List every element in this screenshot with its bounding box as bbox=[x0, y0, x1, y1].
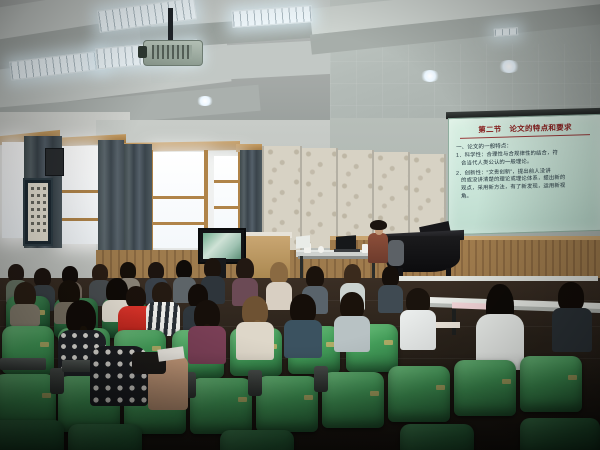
lecture-seat[interactable] bbox=[68, 424, 142, 450]
patterned-curtain-panel bbox=[336, 150, 374, 246]
projector-lens bbox=[138, 46, 147, 58]
window-pane bbox=[2, 142, 24, 238]
patterned-curtain-panel bbox=[300, 148, 338, 248]
projection-screen: 第二节 论文的特点和要求 一、论文的一般特点： 1．科学性：合理性与合规律性的结… bbox=[448, 114, 600, 235]
window-pane bbox=[62, 146, 98, 244]
seat-armrest bbox=[50, 368, 64, 394]
ceiling-downlight bbox=[498, 60, 520, 73]
window-curtain[interactable] bbox=[98, 140, 124, 250]
window-pane bbox=[214, 156, 240, 238]
framed-calligraphy bbox=[23, 178, 53, 246]
ceiling-downlight bbox=[420, 70, 440, 82]
lecture-seat[interactable] bbox=[322, 372, 384, 428]
seat-writing-tablet bbox=[0, 358, 46, 370]
window-curtain[interactable] bbox=[124, 144, 152, 252]
lecture-seat[interactable] bbox=[0, 420, 64, 450]
paper-stack bbox=[296, 235, 310, 248]
window-mullion bbox=[60, 190, 98, 193]
lecture-seat[interactable] bbox=[388, 366, 450, 422]
lecture-seat[interactable] bbox=[256, 376, 318, 432]
seat-armrest bbox=[248, 370, 262, 396]
lecture-seat[interactable] bbox=[454, 360, 516, 416]
ceiling-downlight bbox=[196, 96, 214, 106]
calligraphy-paper bbox=[28, 183, 48, 241]
laptop-keyboard bbox=[334, 249, 360, 252]
window-mullion bbox=[214, 206, 240, 209]
monitor-screen-content bbox=[203, 233, 241, 259]
projector-mount-pole bbox=[168, 8, 173, 44]
window-mullion bbox=[60, 218, 98, 221]
presenter-chair bbox=[388, 240, 404, 266]
table-leg bbox=[300, 256, 303, 278]
projector-vent bbox=[152, 45, 192, 59]
presenter-hair bbox=[370, 220, 387, 230]
presenter-body bbox=[368, 233, 388, 263]
fluorescent-light-panel bbox=[494, 27, 518, 37]
window-mullion bbox=[152, 222, 206, 225]
lecture-seat[interactable] bbox=[520, 356, 582, 412]
lecture-seat[interactable] bbox=[400, 424, 474, 450]
presentation-slide: 第二节 论文的特点和要求 一、论文的一般特点： 1．科学性：合理性与合规律性的结… bbox=[449, 115, 600, 234]
seat-armrest bbox=[314, 366, 328, 392]
wall-speaker bbox=[45, 148, 64, 176]
cup bbox=[318, 246, 324, 253]
lecture-hall-photo: 第二节 论文的特点和要求 一、论文的一般特点： 1．科学性：合理性与合规律性的结… bbox=[0, 0, 600, 450]
window-mullion bbox=[152, 196, 206, 199]
audience-table bbox=[398, 276, 598, 281]
lecture-seat[interactable] bbox=[520, 418, 600, 450]
lecture-seat[interactable] bbox=[190, 378, 252, 434]
window-mullion bbox=[214, 180, 240, 183]
lecture-seat[interactable] bbox=[220, 430, 294, 450]
presenter-table-skirt bbox=[298, 256, 378, 259]
